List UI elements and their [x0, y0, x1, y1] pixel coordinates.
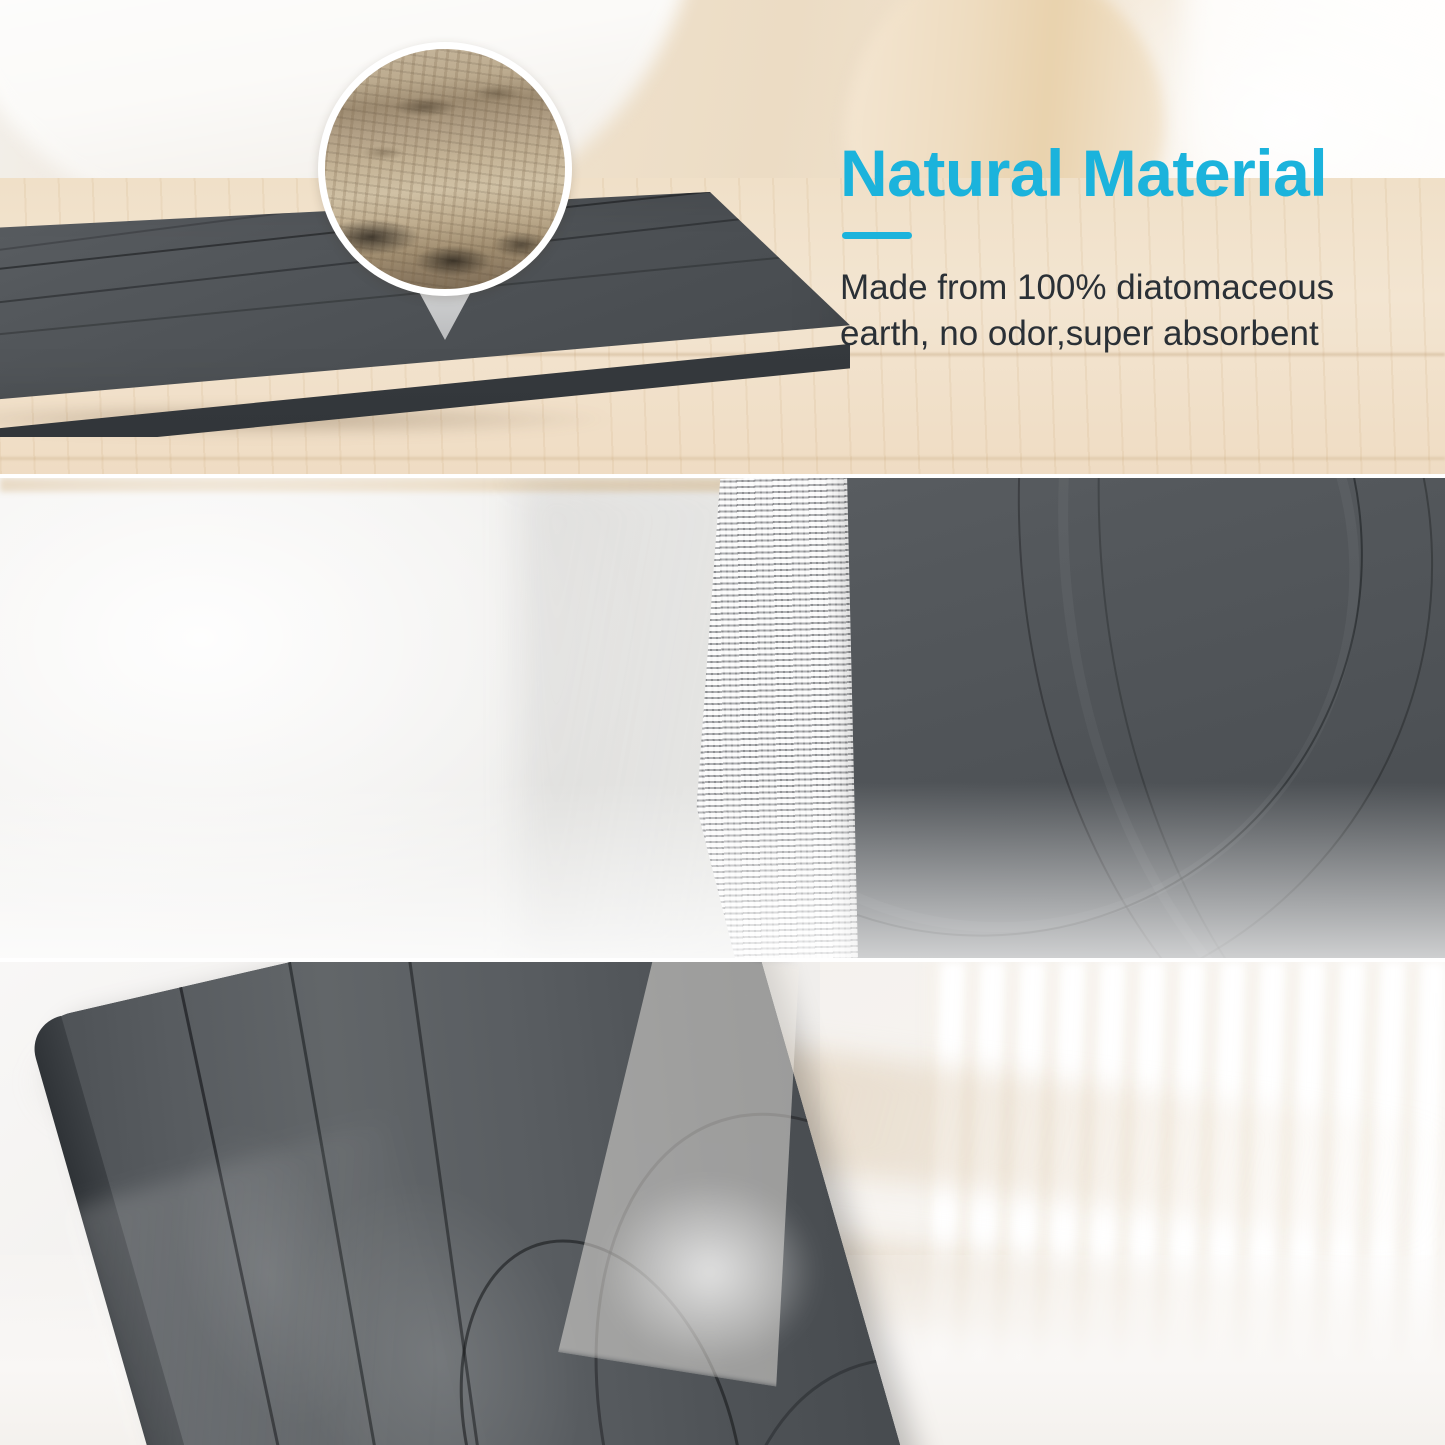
diatomaceous-earth-icon	[325, 49, 565, 289]
panel-easy-to-clean: Easy to Clean Simply rinse with water an…	[0, 962, 1445, 1445]
panel-non-slip: Non slip Non-slip pad is included, to en…	[0, 478, 1445, 962]
floor-plank-seam	[0, 457, 1445, 460]
panel-1-body-text: Made from 100% diatomaceous earth, no od…	[840, 265, 1350, 357]
panel-natural-material: Natural Material Made from 100% diatomac…	[0, 0, 1445, 478]
water-mist	[560, 1122, 860, 1422]
callout-ring	[318, 42, 572, 296]
panel-divider	[0, 474, 1445, 478]
panel-1-text-block: Natural Material Made from 100% diatomac…	[840, 140, 1380, 357]
material-callout-pin	[318, 42, 572, 342]
panel-divider	[0, 958, 1445, 962]
panel-1-accent-bar	[842, 232, 912, 239]
product-feature-infographic: Natural Material Made from 100% diatomac…	[0, 0, 1445, 1445]
rock-texture	[325, 49, 565, 289]
panel-1-headline: Natural Material	[840, 140, 1380, 206]
floor-light-wash	[0, 782, 1445, 962]
